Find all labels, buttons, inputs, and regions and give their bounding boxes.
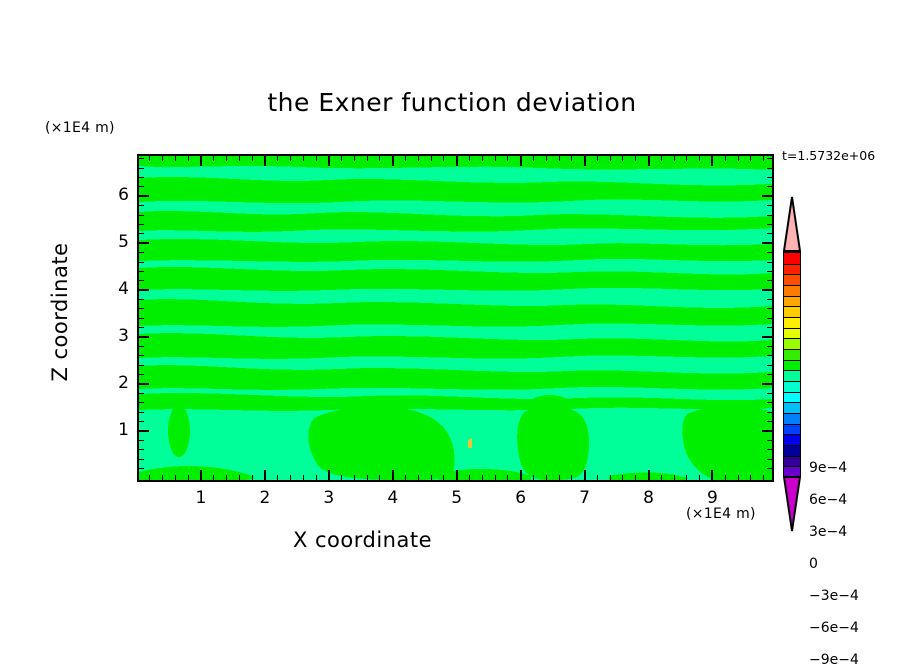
x-tick-top	[546, 156, 547, 161]
y-tick-label: 3	[89, 326, 129, 346]
colorbar-band	[784, 274, 800, 285]
figure-canvas: the Exner function deviation (×1E4 m) (×…	[0, 0, 904, 654]
y-axis-unit-label: (×1E4 m)	[45, 120, 115, 136]
y-tick-label: 1	[89, 420, 129, 440]
y-tick-left	[139, 262, 144, 263]
y-tick-left	[139, 299, 144, 300]
x-tick-top	[711, 156, 713, 166]
x-tick-bottom	[175, 475, 176, 480]
y-axis-title: Z coordinate	[48, 222, 72, 402]
colorbar-band-divider	[784, 434, 800, 435]
colorbar-band-divider	[784, 264, 800, 265]
y-tick-left	[139, 195, 149, 197]
x-tick-top	[188, 156, 189, 161]
x-tick-bottom	[699, 475, 700, 480]
x-tick-top	[635, 156, 636, 161]
x-tick-bottom	[622, 475, 623, 480]
y-tick-right	[767, 393, 772, 394]
y-tick-label: 6	[89, 185, 129, 205]
x-tick-bottom	[200, 470, 202, 480]
y-tick-right	[767, 280, 772, 281]
y-tick-right	[767, 308, 772, 309]
x-tick-bottom	[188, 475, 189, 480]
colorbar-band-divider	[784, 360, 800, 361]
x-tick-top	[316, 156, 317, 161]
x-tick-top	[277, 156, 278, 161]
y-tick-right	[767, 365, 772, 366]
colorbar-band-divider	[784, 349, 800, 350]
y-tick-right	[767, 318, 772, 319]
x-tick-bottom	[533, 475, 534, 480]
colorbar-bands	[783, 252, 801, 476]
y-tick-right	[767, 205, 772, 206]
colorbar-tick-label: 9e−4	[809, 460, 847, 476]
x-tick-top	[162, 156, 163, 161]
x-tick-bottom	[559, 475, 560, 480]
y-tick-right	[767, 355, 772, 356]
x-tick-top	[252, 156, 253, 161]
x-tick-label: 7	[565, 488, 605, 508]
x-tick-bottom	[738, 475, 739, 480]
x-axis-title: X coordinate	[0, 528, 725, 552]
x-tick-top	[264, 156, 266, 166]
y-tick-left	[139, 440, 144, 441]
y-tick-left	[139, 449, 144, 450]
colorbar-band	[784, 360, 800, 371]
y-tick-left	[139, 346, 144, 347]
y-tick-left	[139, 468, 144, 469]
colorbar-under-arrow	[783, 476, 801, 532]
x-tick-top	[661, 156, 662, 161]
colorbar-tick-label: −3e−4	[809, 588, 859, 604]
y-tick-right	[767, 158, 772, 159]
y-tick-right	[767, 224, 772, 225]
colorbar-band	[784, 424, 800, 435]
y-tick-left	[139, 280, 144, 281]
y-tick-left	[139, 289, 149, 291]
colorbar-band-divider	[784, 392, 800, 393]
y-tick-right	[767, 327, 772, 328]
colorbar-tick-label: 6e−4	[809, 492, 847, 508]
x-tick-bottom	[520, 470, 522, 480]
colorbar-band-divider	[784, 370, 800, 371]
x-tick-bottom	[341, 475, 342, 480]
y-tick-left	[139, 308, 144, 309]
y-tick-label: 4	[89, 279, 129, 299]
y-tick-left	[139, 374, 144, 375]
x-tick-top	[354, 156, 355, 161]
colorbar-band-divider	[784, 456, 800, 457]
x-tick-bottom	[431, 475, 432, 480]
colorbar-band	[784, 370, 800, 381]
colorbar-band	[784, 317, 800, 328]
x-tick-bottom	[252, 475, 253, 480]
colorbar-band	[784, 445, 800, 456]
y-tick-left	[139, 242, 149, 244]
x-tick-top	[495, 156, 496, 161]
x-tick-bottom	[392, 470, 394, 480]
x-axis-unit-label: (×1E4 m)	[686, 506, 756, 522]
x-tick-bottom	[482, 475, 483, 480]
x-tick-bottom	[328, 470, 330, 480]
y-tick-left	[139, 177, 144, 178]
y-tick-left	[139, 318, 144, 319]
x-tick-bottom	[418, 475, 419, 480]
y-tick-left	[139, 421, 144, 422]
y-tick-left	[139, 186, 144, 187]
x-tick-bottom	[226, 475, 227, 480]
y-tick-right	[762, 242, 772, 244]
x-tick-top	[686, 156, 687, 161]
colorbar-band-divider	[784, 317, 800, 318]
x-tick-bottom	[379, 475, 380, 480]
y-tick-right	[767, 459, 772, 460]
colorbar-band-divider	[784, 328, 800, 329]
colorbar[interactable]: 9e−46e−43e−40−3e−4−6e−4−9e−4	[783, 196, 801, 532]
contour-field	[139, 156, 772, 480]
x-tick-bottom	[763, 475, 764, 480]
y-tick-left	[139, 430, 149, 432]
x-tick-top	[379, 156, 380, 161]
y-tick-right	[767, 421, 772, 422]
colorbar-band-divider	[784, 424, 800, 425]
x-tick-top	[290, 156, 291, 161]
y-tick-left	[139, 215, 144, 216]
colorbar-band	[784, 434, 800, 445]
x-tick-bottom	[711, 470, 713, 480]
y-tick-left	[139, 158, 144, 159]
x-tick-top	[674, 156, 675, 161]
colorbar-band	[784, 381, 800, 392]
x-tick-bottom	[456, 470, 458, 480]
y-tick-right	[767, 468, 772, 469]
colorbar-tick-label: 0	[809, 556, 818, 572]
x-tick-top	[584, 156, 586, 166]
x-tick-bottom	[213, 475, 214, 480]
colorbar-band	[784, 456, 800, 467]
x-tick-bottom	[303, 475, 304, 480]
x-tick-top	[507, 156, 508, 161]
y-tick-right	[767, 374, 772, 375]
y-tick-right	[767, 215, 772, 216]
colorbar-band-divider	[784, 306, 800, 307]
x-tick-top	[571, 156, 572, 161]
x-tick-top	[725, 156, 726, 161]
y-tick-left	[139, 383, 149, 385]
y-tick-right	[767, 440, 772, 441]
y-tick-left	[139, 224, 144, 225]
colorbar-band	[784, 285, 800, 296]
colorbar-band	[784, 392, 800, 403]
x-tick-bottom	[597, 475, 598, 480]
colorbar-band	[784, 296, 800, 307]
x-tick-top	[559, 156, 560, 161]
x-tick-bottom	[290, 475, 291, 480]
colorbar-band-divider	[784, 285, 800, 286]
y-tick-label: 2	[89, 373, 129, 393]
x-tick-bottom	[674, 475, 675, 480]
x-tick-bottom	[405, 475, 406, 480]
x-tick-top	[533, 156, 534, 161]
y-tick-right	[762, 383, 772, 385]
y-tick-right	[767, 186, 772, 187]
x-tick-top	[520, 156, 522, 166]
colorbar-band	[784, 253, 800, 264]
x-tick-label: 4	[373, 488, 413, 508]
timestamp-label: t=1.5732e+06	[782, 148, 875, 163]
y-tick-left	[139, 271, 144, 272]
colorbar-band-divider	[784, 466, 800, 467]
colorbar-band-divider	[784, 338, 800, 339]
y-tick-left	[139, 327, 144, 328]
colorbar-band-divider	[784, 296, 800, 297]
y-tick-left	[139, 412, 144, 413]
x-tick-top	[405, 156, 406, 161]
x-tick-bottom	[316, 475, 317, 480]
x-tick-bottom	[469, 475, 470, 480]
x-tick-bottom	[149, 475, 150, 480]
colorbar-band	[784, 349, 800, 360]
y-tick-right	[767, 412, 772, 413]
x-tick-top	[456, 156, 458, 166]
x-tick-top	[367, 156, 368, 161]
colorbar-band-divider	[784, 413, 800, 414]
x-tick-top	[303, 156, 304, 161]
y-tick-left	[139, 233, 144, 234]
y-tick-right	[767, 252, 772, 253]
y-tick-right	[762, 336, 772, 338]
y-tick-right	[767, 346, 772, 347]
x-tick-top	[763, 156, 764, 161]
contour-plot-area	[137, 154, 774, 482]
chart-title: the Exner function deviation	[0, 88, 904, 117]
colorbar-band	[784, 328, 800, 339]
x-tick-bottom	[507, 475, 508, 480]
x-tick-bottom	[162, 475, 163, 480]
x-tick-top	[431, 156, 432, 161]
y-tick-right	[767, 177, 772, 178]
x-tick-top	[597, 156, 598, 161]
x-tick-top	[392, 156, 394, 166]
colorbar-band	[784, 402, 800, 413]
colorbar-band	[784, 306, 800, 317]
x-tick-bottom	[750, 475, 751, 480]
x-tick-label: 2	[245, 488, 285, 508]
x-tick-label: 5	[437, 488, 477, 508]
x-tick-bottom	[661, 475, 662, 480]
x-tick-top	[482, 156, 483, 161]
y-tick-left	[139, 168, 144, 169]
x-tick-bottom	[277, 475, 278, 480]
y-tick-right	[767, 299, 772, 300]
y-tick-left	[139, 355, 144, 356]
x-tick-label: 9	[692, 488, 732, 508]
x-tick-bottom	[686, 475, 687, 480]
colorbar-band	[784, 338, 800, 349]
x-tick-bottom	[725, 475, 726, 480]
x-tick-bottom	[495, 475, 496, 480]
x-tick-bottom	[610, 475, 611, 480]
y-tick-left	[139, 459, 144, 460]
x-tick-top	[149, 156, 150, 161]
x-tick-top	[341, 156, 342, 161]
x-tick-top	[622, 156, 623, 161]
x-tick-top	[699, 156, 700, 161]
x-tick-top	[200, 156, 202, 166]
x-tick-bottom	[443, 475, 444, 480]
x-tick-bottom	[239, 475, 240, 480]
colorbar-tick-label: 3e−4	[809, 524, 847, 540]
x-tick-bottom	[584, 470, 586, 480]
y-tick-left	[139, 205, 144, 206]
colorbar-band-divider	[784, 274, 800, 275]
x-tick-label: 8	[629, 488, 669, 508]
x-tick-top	[750, 156, 751, 161]
y-tick-left	[139, 402, 144, 403]
x-tick-bottom	[354, 475, 355, 480]
x-tick-top	[239, 156, 240, 161]
x-tick-top	[213, 156, 214, 161]
x-tick-label: 1	[181, 488, 221, 508]
y-tick-right	[762, 289, 772, 291]
x-tick-top	[443, 156, 444, 161]
x-tick-bottom	[264, 470, 266, 480]
x-tick-top	[175, 156, 176, 161]
x-tick-top	[738, 156, 739, 161]
y-tick-right	[767, 402, 772, 403]
colorbar-band	[784, 264, 800, 275]
y-tick-right	[767, 168, 772, 169]
x-tick-top	[418, 156, 419, 161]
x-tick-top	[648, 156, 650, 166]
y-tick-label: 5	[89, 232, 129, 252]
y-tick-left	[139, 336, 149, 338]
x-tick-bottom	[648, 470, 650, 480]
colorbar-band-divider	[784, 445, 800, 446]
y-tick-right	[762, 430, 772, 432]
colorbar-band-divider	[784, 381, 800, 382]
x-tick-top	[469, 156, 470, 161]
colorbar-tick-label: −6e−4	[809, 620, 859, 636]
y-tick-right	[767, 271, 772, 272]
y-tick-right	[767, 262, 772, 263]
colorbar-over-arrow	[783, 196, 801, 252]
x-tick-label: 3	[309, 488, 349, 508]
y-tick-left	[139, 252, 144, 253]
x-tick-top	[226, 156, 227, 161]
y-tick-right	[767, 233, 772, 234]
x-tick-top	[610, 156, 611, 161]
y-tick-left	[139, 393, 144, 394]
x-tick-bottom	[546, 475, 547, 480]
y-tick-right	[767, 449, 772, 450]
x-tick-bottom	[367, 475, 368, 480]
y-tick-left	[139, 365, 144, 366]
x-tick-bottom	[571, 475, 572, 480]
colorbar-tick-label: −9e−4	[809, 652, 859, 668]
colorbar-band	[784, 413, 800, 424]
x-tick-top	[328, 156, 330, 166]
colorbar-band-divider	[784, 402, 800, 403]
x-tick-bottom	[635, 475, 636, 480]
x-tick-label: 6	[501, 488, 541, 508]
y-tick-right	[762, 195, 772, 197]
